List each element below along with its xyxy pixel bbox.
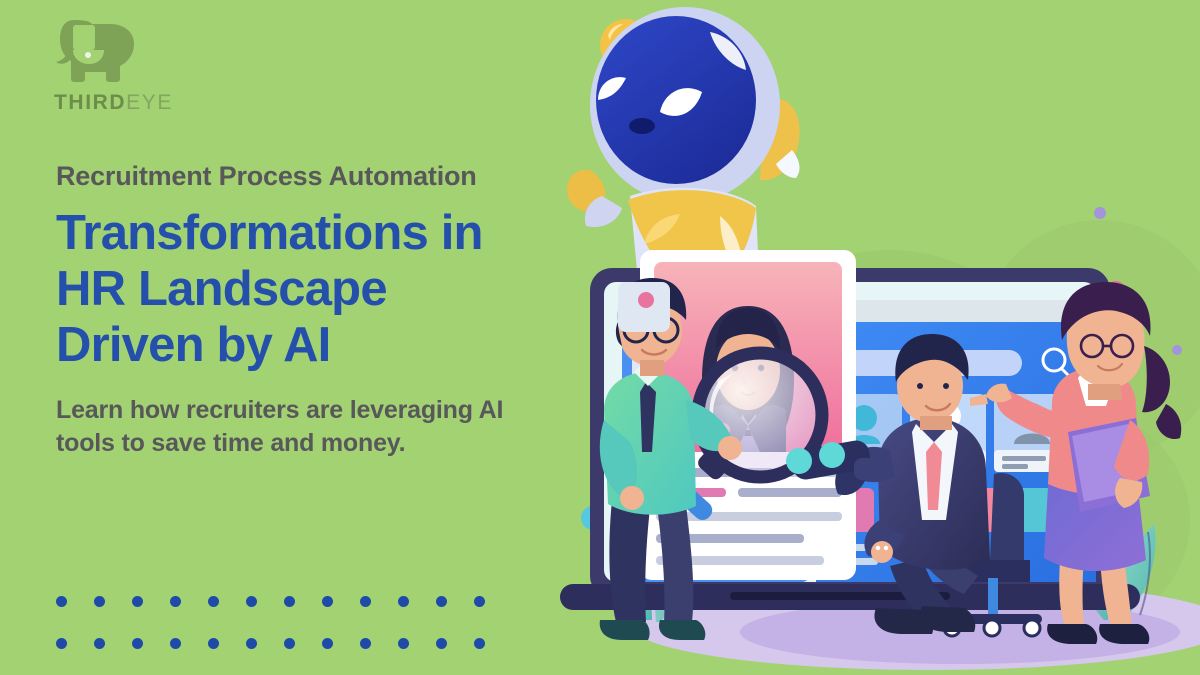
subtitle-line-1: Learn how recruiters are leveraging AI	[56, 394, 596, 427]
decorative-dot	[246, 638, 257, 649]
logo-wordmark: THIRDEYE	[54, 92, 232, 113]
decorative-dot	[132, 596, 143, 607]
headline-line-3: Driven by AI	[56, 318, 596, 374]
banner-root: THIRDEYE Recruitment Process Automation …	[0, 0, 1200, 675]
decorative-dot	[474, 638, 485, 649]
decorative-dot	[322, 596, 333, 607]
decorative-dot	[56, 638, 67, 649]
decorative-dot	[436, 596, 447, 607]
page-title: Transformations in HR Landscape Driven b…	[56, 206, 596, 374]
logo-word-secondary: EYE	[126, 91, 173, 114]
decorative-dot	[56, 596, 67, 607]
headline-line-2: HR Landscape	[56, 262, 596, 318]
decorative-dot	[170, 596, 181, 607]
decorative-dot	[474, 596, 485, 607]
text-column: Recruitment Process Automation Transform…	[56, 160, 596, 460]
eyebrow-label: Recruitment Process Automation	[56, 160, 596, 192]
decorative-dot	[208, 638, 219, 649]
decorative-dot	[360, 638, 371, 649]
decorative-dot	[398, 596, 409, 607]
illustration-svg	[560, 0, 1200, 675]
decorative-dot	[284, 596, 295, 607]
subtitle-line-2: tools to save time and money.	[56, 427, 596, 460]
decorative-dot	[398, 638, 409, 649]
logo-word-primary: THIRD	[54, 91, 126, 114]
elephant-logo-icon	[52, 12, 144, 90]
decorative-dot	[246, 596, 257, 607]
hero-illustration	[560, 0, 1200, 675]
subtitle: Learn how recruiters are leveraging AI t…	[56, 394, 596, 460]
decorative-dot	[208, 596, 219, 607]
decorative-dot	[170, 638, 181, 649]
decorative-dot	[360, 596, 371, 607]
floating-ui-chip	[618, 282, 670, 332]
decorative-dot	[132, 638, 143, 649]
decorative-dot	[322, 638, 333, 649]
brand-logo[interactable]: THIRDEYE	[52, 12, 232, 113]
headline-line-1: Transformations in	[56, 206, 596, 262]
decorative-dot	[94, 596, 105, 607]
decorative-dot	[284, 638, 295, 649]
decorative-dot	[94, 638, 105, 649]
decorative-dot-grid	[56, 596, 512, 675]
decorative-dot	[436, 638, 447, 649]
